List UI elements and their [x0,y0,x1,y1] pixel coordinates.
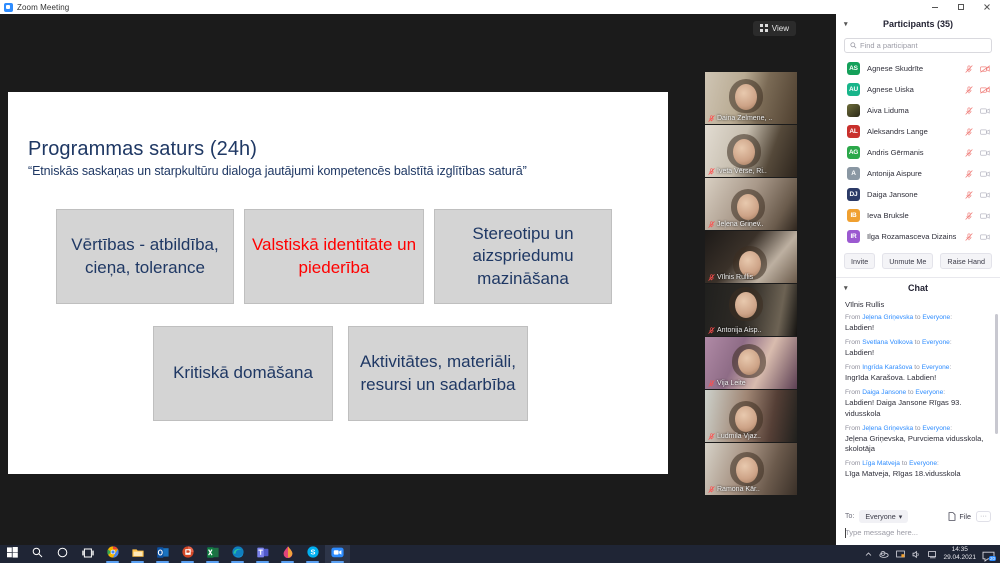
avatar: DJ [847,188,860,201]
zoom-icon [331,545,344,563]
chat-message-list[interactable]: Vīlnis Rullis From Jeļena Griņevska to E… [836,298,1000,505]
chat-message: From Daiga Jansone to Everyone:Labdien! … [845,389,991,418]
slide-box-highlighted: Valstiskā identitāte un piederība [244,209,424,304]
chevron-down-icon[interactable]: ▾ [844,20,848,28]
thumbnail-participant-name: Vija Leite [717,380,746,387]
video-thumbnail-strip: Daina Zelmene, ..Iveta Vērse, Ri..Jeļena… [705,72,797,497]
avatar [847,104,860,117]
participant-row[interactable]: AUAgnese Uiska [838,79,998,100]
participant-status-icons [965,170,990,178]
slide-box-row-1: Vērtības - atbildība, cieņa, tolerance V… [56,209,612,304]
participant-face [737,194,759,220]
taskbar-items: S [0,545,350,563]
file-icon [948,512,956,521]
participant-status-icons [965,233,990,241]
chat-input[interactable]: Type message here... [836,527,1000,545]
teams-button[interactable] [250,545,275,563]
search-button[interactable] [25,545,50,563]
teams-icon [257,545,269,563]
participant-search-wrapper: Find a participant [836,34,1000,58]
excel-icon [207,545,219,563]
video-icon[interactable] [980,128,990,136]
participant-name: Daiga Jansone [867,190,918,199]
text-caret [845,528,846,538]
chat-message: From Ingrīda Karašova to Everyone:Ingrīd… [845,364,991,383]
participant-status-icons [965,191,990,199]
chat-footer: To: Everyone ▾ File ··· Type message her… [836,505,1000,545]
participant-row[interactable]: DJDaiga Jansone [838,184,998,205]
side-panel: ▾ Participants (35) Find a participant A… [836,14,1000,545]
thumbnail-participant-name: Jeļena Griņev.. [717,221,764,228]
participants-header: ▾ Participants (35) [836,14,1000,34]
chat-message-meta: From Jeļena Griņevska to Everyone: [845,425,991,434]
mic-muted-icon [708,486,715,493]
chat-to-label: To: [845,513,854,520]
edge-button[interactable] [225,545,250,563]
chat-input-placeholder: Type message here... [845,528,918,537]
maximize-button[interactable] [948,0,974,14]
video-thumbnail[interactable]: Ludmila Vjaz.. [705,390,797,442]
participant-face [735,406,757,432]
thumbnail-participant-name: Daina Zelmene, .. [717,115,772,122]
mic-muted-icon[interactable] [965,170,973,178]
participant-row[interactable]: AAntonija Aispure [838,163,998,184]
thumbnail-participant-name: Iveta Vērse, Ri.. [717,168,767,175]
chat-header: ▾ Chat [836,278,1000,298]
start-button[interactable] [0,545,25,563]
video-icon[interactable] [980,212,990,220]
chat-message-meta: From Jeļena Griņevska to Everyone: [845,314,991,323]
zoom-icon [4,3,13,12]
notification-badge: 20 [989,556,996,561]
view-button-label: View [772,24,789,33]
participant-name: Agnese Uiska [867,85,914,94]
slide-box-row-2: Kritiskā domāšana Aktivitātes, materiāli… [153,326,528,421]
video-icon[interactable] [980,233,990,241]
video-thumbnail[interactable]: Iveta Vērse, Ri.. [705,125,797,177]
display-settings-icon[interactable] [895,549,905,559]
participant-list[interactable]: ASAgnese SkudrīteAUAgnese UiskaAiva Lidu… [836,58,1000,247]
zoom-meeting-window: Zoom Meeting View Programmas saturs (24h… [0,0,1000,563]
chat-recipient-row: To: Everyone ▾ File ··· [836,505,1000,527]
video-icon[interactable] [980,191,990,199]
chrome-icon [107,545,119,563]
slide-box: Aktivitātes, materiāli, resursi un sadar… [348,326,528,421]
file-explorer-button[interactable] [125,545,150,563]
participant-status-icons [965,65,990,73]
participant-name: Aleksandrs Lange [867,127,928,136]
grid-icon [760,24,768,32]
chat-recipient-dropdown[interactable]: Everyone ▾ [859,510,908,523]
chat-title: Chat [908,283,928,293]
mic-muted-icon [708,327,715,334]
video-icon[interactable] [980,170,990,178]
mic-muted-icon[interactable] [965,191,973,199]
participant-name: Aiva Liduma [867,106,909,115]
slide-box: Stereotipu un aizspriedumu mazināšana [434,209,612,304]
excel-button[interactable] [200,545,225,563]
search-icon [850,42,857,49]
participant-name: Ilga Rozamasceva Dizains [867,232,956,241]
powerpoint-icon [182,545,194,563]
folder-icon [132,545,144,563]
stage-top-bar: View [753,19,796,37]
thumbnail-name-bar: Daina Zelmene, .. [705,113,797,124]
video-thumbnail[interactable]: Jeļena Griņev.. [705,178,797,230]
chat-partial-message: Vīlnis Rullis [845,300,991,309]
shared-slide: Programmas saturs (24h) “Etniskās saskaņ… [8,92,668,474]
avatar: AS [847,62,860,75]
chat-message-meta: From Līga Matveja to Everyone: [845,460,991,469]
task-view-button[interactable] [75,545,100,563]
raise-hand-button[interactable]: Raise Hand [940,253,992,269]
search-input[interactable]: Find a participant [844,38,992,53]
mic-muted-icon[interactable] [965,86,973,94]
chat-message: From Līga Matveja to Everyone:Līga Matve… [845,460,991,479]
participant-name: Ieva Bruksle [867,211,909,220]
skype-icon: S [307,545,319,563]
notification-center-button[interactable]: 20 [982,549,995,560]
thumbnail-name-bar: Vija Leite [705,378,797,389]
participant-status-icons [965,212,990,220]
paint3d-button[interactable] [275,545,300,563]
thumbnail-participant-name: Ludmila Vjaz.. [717,433,761,440]
participant-name: Antonija Aispure [867,169,922,178]
participant-face [735,292,757,318]
slide-subtitle: “Etniskās saskaņas un starpkultūru dialo… [28,164,527,178]
chat-message-meta: From Daiga Jansone to Everyone: [845,389,991,398]
video-thumbnail[interactable]: Vīlnis Rullis [705,231,797,283]
powerpoint-button[interactable] [175,545,200,563]
slide-box: Vērtības - atbildība, cieņa, tolerance [56,209,234,304]
chat-file-label: File [959,512,971,521]
mic-muted-icon[interactable] [965,233,973,241]
close-button[interactable] [974,0,1000,14]
svg-text:S: S [310,548,315,557]
participant-row[interactable]: ASAgnese Skudrīte [838,58,998,79]
mic-muted-icon[interactable] [965,128,973,136]
chat-message-body: Līga Matveja, Rīgas 18.vidusskola [845,469,991,479]
video-icon[interactable] [980,107,990,115]
meeting-stage: View Programmas saturs (24h) “Etniskās s… [0,14,836,545]
skype-button[interactable]: S [300,545,325,563]
mic-muted-icon [708,115,715,122]
window-title-bar: Zoom Meeting [0,0,1000,14]
mic-muted-icon[interactable] [965,149,973,157]
system-tray: 14:35 29.04.2021 20 [863,546,1000,562]
circle-icon [57,545,68,563]
thumbnail-participant-name: Ramona Kār.. [717,486,760,493]
mic-muted-icon [708,221,715,228]
participant-row[interactable]: IRIlga Rozamasceva Dizains [838,226,998,247]
thumbnail-participant-name: Vīlnis Rullis [717,274,753,281]
participant-row[interactable]: AGAndris Gērmanis [838,142,998,163]
participant-row[interactable]: IBIeva Bruksle [838,205,998,226]
chat-message-body: Labdien! Daiga Jansone Rīgas 93. vidussk… [845,398,991,419]
search-icon [32,545,43,563]
slide-box: Kritiskā domāšana [153,326,333,421]
participants-title: Participants (35) [883,19,953,29]
chat-message: From Jeļena Griņevska to Everyone:Labdie… [845,314,991,333]
clock-time: 14:35 [952,546,968,553]
window-controls [922,0,1000,14]
window-title: Zoom Meeting [17,3,69,12]
chat-message-body: Labdien! [845,323,991,333]
video-thumbnail[interactable]: Vija Leite [705,337,797,389]
chat-message-body: Jeļena Griņevska, Purvciema vidusskola, … [845,434,991,455]
show-hidden-icons-button[interactable] [863,549,873,559]
windows-icon [7,545,18,563]
windows-taskbar: S 14:35 29.04.2021 20 [0,545,1000,563]
thumbnail-name-bar: Iveta Vērse, Ri.. [705,166,797,177]
view-button[interactable]: View [753,21,796,36]
participant-face [738,349,760,375]
chevron-down-icon[interactable]: ▾ [844,284,848,292]
mic-muted-icon[interactable] [965,107,973,115]
mic-muted-icon[interactable] [965,212,973,220]
participant-actions: InviteUnmute MeRaise Hand [836,247,1000,277]
mic-muted-icon [708,168,715,175]
clock-date: 29.04.2021 [943,554,976,561]
mic-muted-icon [708,380,715,387]
chat-message: From Jeļena Griņevska to Everyone:Jeļena… [845,425,991,454]
participant-face [735,84,757,110]
chat-message-meta: From Ingrīda Karašova to Everyone: [845,364,991,373]
avatar: AG [847,146,860,159]
chat-message-body: Ingrīda Karašova. Labdien! [845,373,991,383]
chevron-down-icon: ▾ [899,512,903,521]
video-off-icon[interactable] [980,65,990,73]
video-thumbnail[interactable]: Daina Zelmene, .. [705,72,797,124]
task-view-icon [82,545,94,563]
chrome-button[interactable] [100,545,125,563]
thumbnail-name-bar: Antonija Aisp.. [705,325,797,336]
avatar: IR [847,230,860,243]
unmute-me-button[interactable]: Unmute Me [882,253,933,269]
participant-status-icons [965,128,990,136]
outlook-button[interactable] [150,545,175,563]
participant-name: Agnese Skudrīte [867,64,923,73]
search-placeholder: Find a participant [860,41,918,50]
participant-face [736,457,758,483]
chat-message: From Svetlana Volkova to Everyone:Labdie… [845,339,991,358]
participant-face [733,139,755,165]
avatar: A [847,167,860,180]
edge-icon [232,545,244,563]
zoom-button[interactable] [325,545,350,563]
mic-muted-icon[interactable] [965,65,973,73]
volume-icon[interactable] [911,549,921,559]
chat-message-body: Labdien! [845,348,991,358]
invite-button[interactable]: Invite [844,253,875,269]
participant-status-icons [965,149,990,157]
participant-row[interactable]: ALAleksandrs Lange [838,121,998,142]
slide-title: Programmas saturs (24h) [28,138,257,161]
taskbar-clock[interactable]: 14:35 29.04.2021 [943,546,976,562]
minimize-button[interactable] [922,0,948,14]
mic-muted-icon [708,433,715,440]
mic-muted-icon [708,274,715,281]
participant-row[interactable]: Aiva Liduma [838,100,998,121]
participant-name: Andris Gērmanis [867,148,924,157]
chat-recipient-value: Everyone [865,512,895,521]
video-off-icon[interactable] [980,86,990,94]
thumbnail-name-bar: Ludmila Vjaz.. [705,431,797,442]
avatar: AU [847,83,860,96]
video-thumbnail[interactable]: Antonija Aisp.. [705,284,797,336]
participant-status-icons [965,107,990,115]
thumbnail-participant-name: Antonija Aisp.. [717,327,761,334]
participant-status-icons [965,86,990,94]
chat-message-meta: From Svetlana Volkova to Everyone: [845,339,991,348]
chat-file-button[interactable]: File [948,512,971,521]
avatar: AL [847,125,860,138]
video-thumbnail[interactable]: Ramona Kār.. [705,443,797,495]
paint-icon [283,545,293,563]
cortana-button[interactable] [50,545,75,563]
video-icon[interactable] [980,149,990,157]
chat-more-button[interactable]: ··· [976,511,991,522]
thumbnail-name-bar: Ramona Kār.. [705,484,797,495]
thumbnail-name-bar: Jeļena Griņev.. [705,219,797,230]
thumbnail-name-bar: Vīlnis Rullis [705,272,797,283]
network-icon[interactable] [927,549,937,559]
onedrive-icon[interactable] [879,549,889,559]
avatar: IB [847,209,860,222]
outlook-icon [157,545,169,563]
